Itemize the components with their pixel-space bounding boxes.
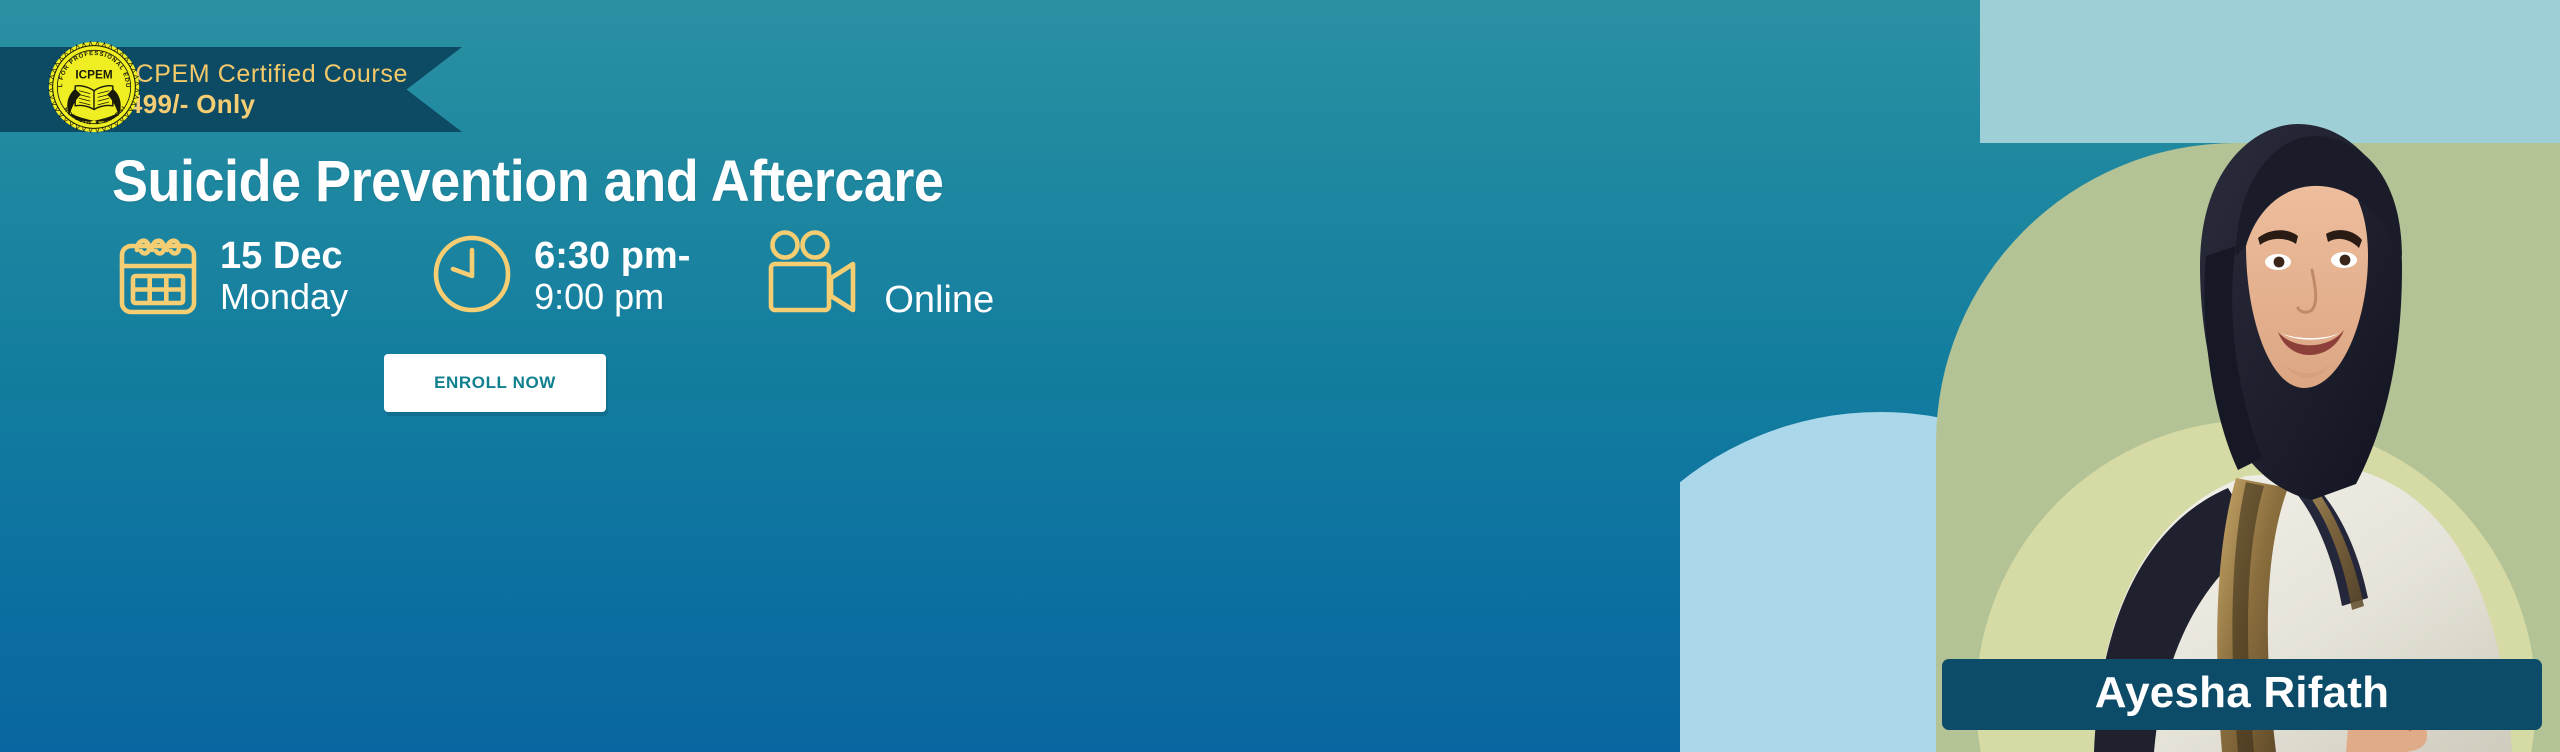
event-time-item: 6:30 pm- 9:00 pm bbox=[426, 228, 690, 325]
calendar-icon bbox=[112, 228, 204, 325]
speaker-name-plate: Ayesha Rifath bbox=[1942, 659, 2542, 730]
speaker-panel: Ayesha Rifath bbox=[1680, 0, 2560, 752]
icpem-certification-seal-icon: COUNCIL FOR PROFESSIONAL EDUCATION INDIA… bbox=[47, 40, 141, 134]
event-date-secondary: Monday bbox=[220, 277, 348, 317]
speaker-name: Ayesha Rifath bbox=[2095, 668, 2389, 717]
enroll-now-button[interactable]: ENROLL NOW bbox=[384, 354, 606, 412]
event-details-row: 15 Dec Monday 6:30 pm- 9:00 pm bbox=[112, 228, 994, 325]
event-time-secondary: 9:00 pm bbox=[534, 277, 690, 317]
event-date-item: 15 Dec Monday bbox=[112, 228, 348, 325]
ribbon-course-label: ICPEM Certified Course bbox=[128, 60, 462, 88]
event-time-primary: 6:30 pm- bbox=[534, 236, 690, 277]
event-date-primary: 15 Dec bbox=[220, 236, 348, 277]
page-title: Suicide Prevention and Aftercare bbox=[112, 148, 943, 215]
event-mode-item: Online bbox=[764, 228, 994, 325]
clock-icon bbox=[426, 228, 518, 325]
event-mode-label: Online bbox=[884, 281, 994, 321]
speaker-photo bbox=[2050, 70, 2520, 752]
promo-banner: Ayesha Rifath ICPEM Certified Course 499… bbox=[0, 0, 2560, 752]
video-camera-icon bbox=[764, 228, 868, 325]
ribbon-price-label: 499/- Only bbox=[128, 90, 462, 120]
svg-text:ICPEM: ICPEM bbox=[75, 69, 112, 82]
